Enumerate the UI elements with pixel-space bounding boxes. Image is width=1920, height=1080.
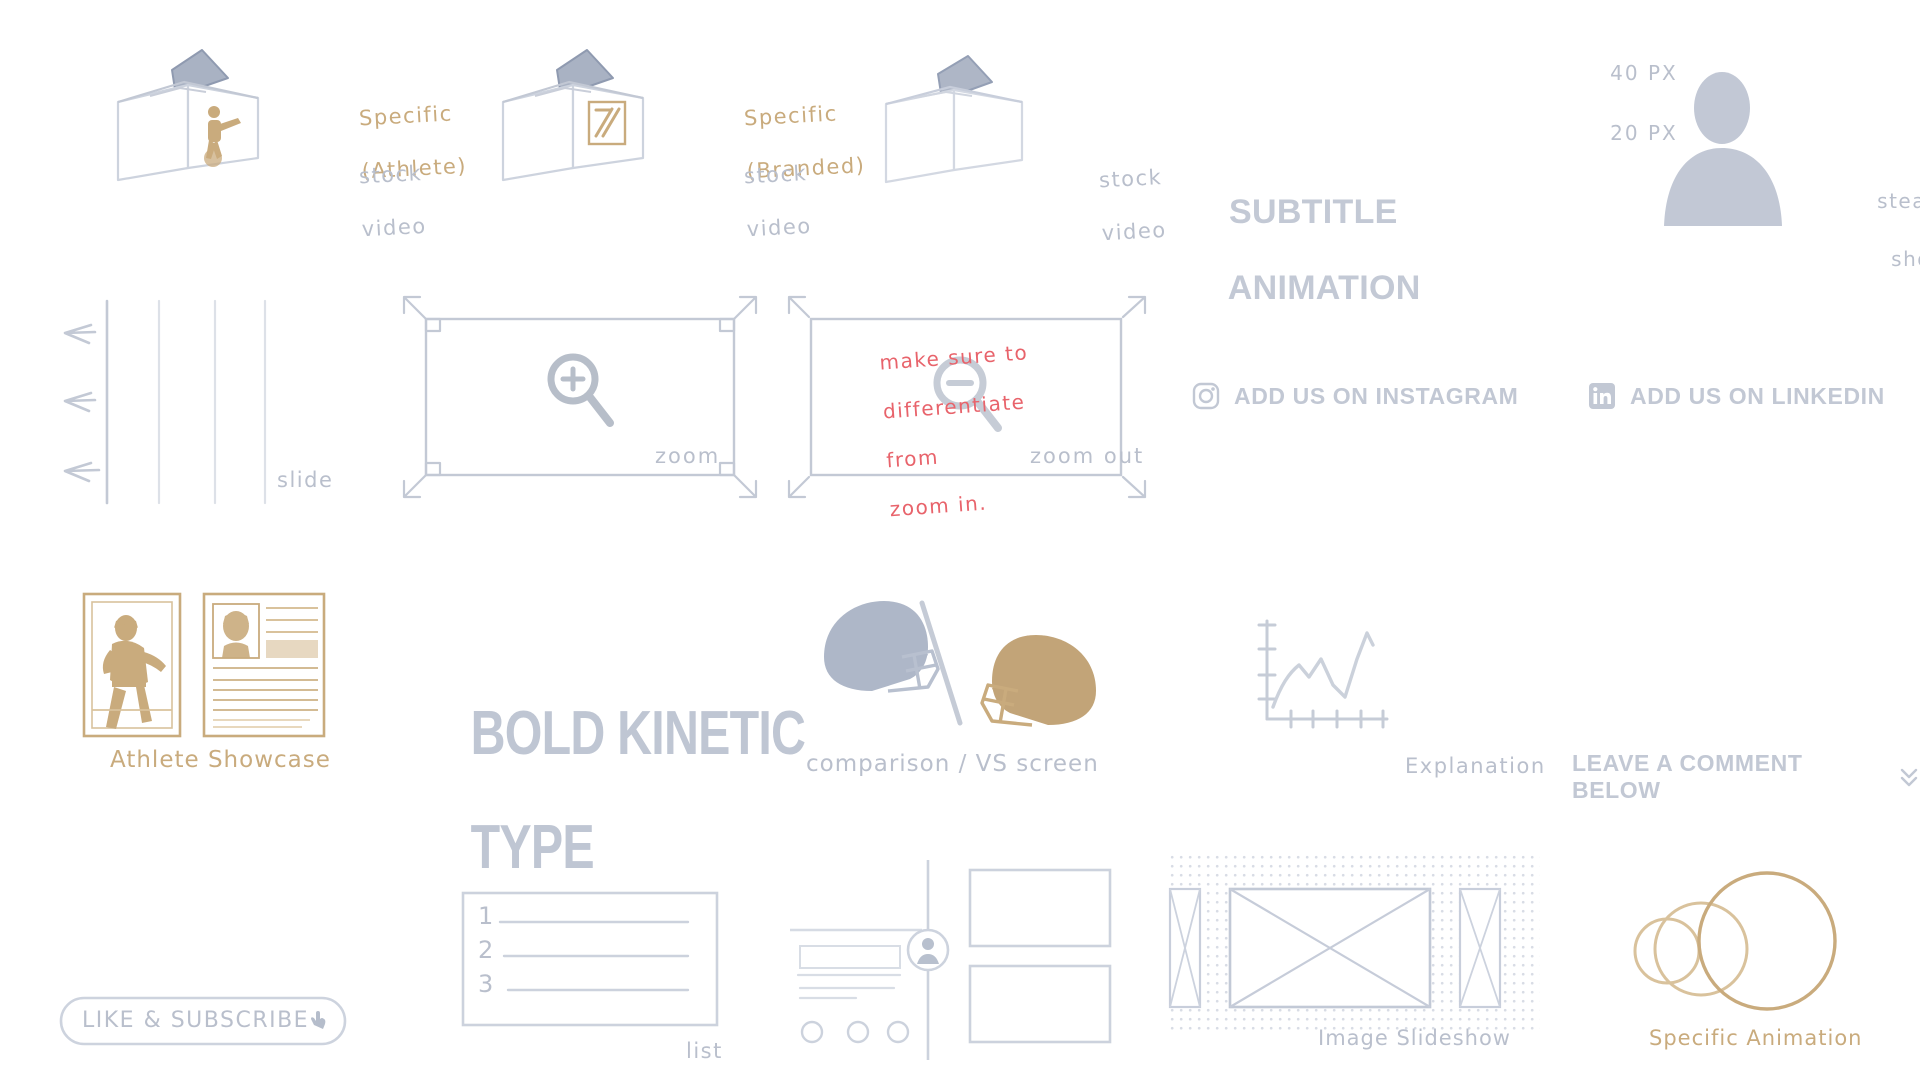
bold-kinetic-type-line2: TYPE (471, 813, 594, 882)
overlapping-circles-icon (1625, 865, 1885, 1025)
athlete-showcase-label: Athlete Showcase (110, 746, 331, 775)
box-with-play-icon (110, 40, 300, 200)
cta-leave-a-comment[interactable]: LEAVE A COMMENT BELOW (1572, 750, 1920, 804)
card-explanation[interactable]: Explanation (1255, 615, 1415, 745)
instagram-icon (1192, 382, 1220, 410)
comparison-label: comparison / VS screen (806, 750, 1099, 779)
list-item-number-3: 3 (478, 969, 495, 999)
card-talking-head[interactable]: 40 PX 20 PX steady shot (1560, 28, 1678, 178)
moodboard-canvas: Specific (Athlete) stock video Specific … (0, 0, 1920, 1080)
subtitle-animation-line1: SUBTITLE (1229, 193, 1398, 231)
box2-label-line1: Specific (743, 102, 838, 131)
box2-label-line3: stock (743, 161, 807, 188)
card-image-slideshow[interactable]: Image Slideshow (1170, 855, 1540, 1035)
person-silhouette-icon (1660, 66, 1830, 226)
like-subscribe-label: LIKE & SUBSCRIBE (82, 1007, 309, 1035)
magnifier-plus-icon (551, 357, 610, 423)
specific-animation-label: Specific Animation (1649, 1025, 1862, 1051)
bold-kinetic-type-line1: BOLD KINETIC (471, 699, 806, 768)
box3-label-line1: stock (1098, 165, 1162, 192)
card-comparison-vs-screen[interactable]: comparison / VS screen (810, 595, 1110, 745)
zoom-in-label: zoom (655, 443, 720, 469)
list-item-number-1: 1 (478, 901, 495, 931)
hand-cursor-icon (308, 1009, 330, 1031)
explanation-label: Explanation (1405, 753, 1546, 779)
card-zoom-in[interactable]: zoom (400, 295, 760, 500)
box1-label-line3: stock (358, 161, 422, 188)
cta-add-us-on-linkedin[interactable]: ADD US ON LINKEDIN (1588, 382, 1885, 410)
talking-head-label-line1: steady (1877, 189, 1920, 213)
zoom-out-label: zoom out (1030, 443, 1144, 469)
comment-cta-label: LEAVE A COMMENT BELOW (1572, 750, 1884, 804)
card-like-and-subscribe[interactable]: LIKE & SUBSCRIBE (58, 995, 348, 1047)
image-slideshow-icon (1170, 855, 1540, 1035)
zoom-out-annotation-line1: make sure to (879, 341, 1029, 375)
card-box-specific-branded[interactable]: Specific (Branded) stock video (495, 40, 685, 200)
cta-add-us-on-instagram[interactable]: ADD US ON INSTAGRAM (1192, 382, 1518, 410)
two-football-helmets-icon (810, 595, 1110, 745)
box-with-play-icon (495, 40, 685, 200)
split-screen-layout-icon (790, 860, 1120, 1075)
box3-label-line2: video (1101, 218, 1167, 245)
list-label: list (686, 1038, 723, 1064)
athlete-showcase-icon (80, 590, 340, 740)
slide-transition-icon (55, 295, 285, 510)
box1-label-line4: video (361, 214, 427, 241)
box1-label-line1: Specific (358, 102, 453, 131)
list-item-number-2: 2 (478, 935, 495, 965)
zoom-in-frame (400, 295, 760, 500)
slide-label: slide (277, 467, 333, 493)
card-subtitle-animation[interactable]: SUBTITLE ANIMATION (1190, 155, 1421, 345)
card-slide[interactable]: slide (55, 295, 285, 510)
card-box-generic-stock[interactable]: stock video (880, 48, 1070, 203)
zoom-out-annotation-line4: zoom in. (889, 490, 988, 521)
linkedin-cta-label: ADD US ON LINKEDIN (1630, 383, 1885, 410)
numbered-list-icon (460, 890, 720, 1030)
box-with-play-icon (880, 48, 1070, 203)
zoom-out-annotation-line3: from (886, 445, 940, 473)
linkedin-icon (1588, 382, 1616, 410)
image-slideshow-label: Image Slideshow (1318, 1025, 1511, 1051)
card-specific-animation[interactable]: Specific Animation (1625, 865, 1885, 1025)
instagram-cta-label: ADD US ON INSTAGRAM (1234, 383, 1518, 410)
box2-label-line4: video (746, 214, 812, 241)
double-chevron-down-icon (1898, 764, 1920, 790)
zoom-out-annotation-line2: differentiate (882, 390, 1026, 424)
card-split-screen[interactable] (790, 860, 1120, 1075)
card-box-specific-athlete[interactable]: Specific (Athlete) stock video (110, 40, 300, 200)
card-list[interactable]: 1 2 3 list (460, 890, 720, 1030)
talking-head-label-line2: shot (1891, 245, 1920, 274)
card-athlete-showcase[interactable]: Athlete Showcase (80, 590, 340, 740)
card-zoom-out[interactable]: make sure to differentiate from zoom in.… (785, 295, 1150, 500)
subtitle-animation-line2: ANIMATION (1228, 269, 1421, 307)
line-chart-icon (1255, 615, 1415, 745)
